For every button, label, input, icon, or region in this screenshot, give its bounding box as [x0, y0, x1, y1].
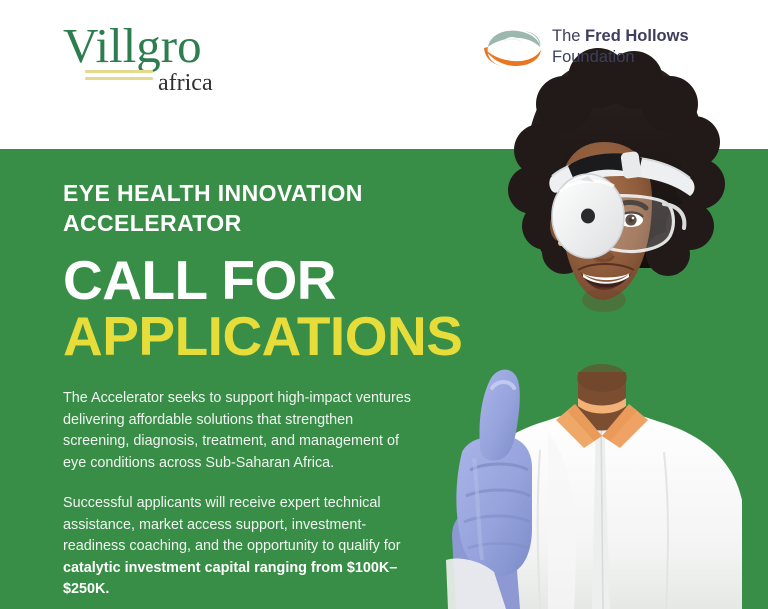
villgro-africa-logo: Villgro africa [63, 21, 243, 87]
fred-hollows-foundation-logo: The Fred Hollows Foundation [480, 24, 710, 76]
funding-amount-highlight: catalytic investment capital ranging fro… [63, 560, 397, 598]
fred-hollows-eye-icon [480, 28, 544, 70]
copy-block: EYE HEALTH INNOVATION ACCELERATOR CALL F… [63, 178, 453, 601]
paragraph-2-lead-text: Successful applicants will receive exper… [63, 495, 401, 554]
villgro-rule-lines [85, 70, 153, 84]
fred-hollows-wordmark: The Fred Hollows Foundation [552, 26, 689, 68]
hollows-the-label: The [552, 27, 585, 45]
hollows-foundation-label: Foundation [552, 47, 689, 68]
program-name-heading: EYE HEALTH INNOVATION ACCELERATOR [63, 178, 453, 238]
health-worker-photo [428, 0, 768, 609]
hollows-name-label: Fred Hollows [585, 27, 689, 45]
villgro-africa-label: africa [158, 71, 213, 95]
poster-root: Villgro africa The Fred Hollows Foundati… [0, 0, 768, 609]
description-paragraph-1: The Accelerator seeks to support high-im… [63, 388, 423, 474]
description-paragraph-2: Successful applicants will receive exper… [63, 493, 423, 601]
page-title: CALL FOR APPLICATIONS [63, 252, 453, 364]
headline-line-1: CALL FOR [63, 252, 453, 308]
headline-line-2: APPLICATIONS [63, 308, 453, 364]
villgro-wordmark: Villgro [63, 21, 202, 70]
